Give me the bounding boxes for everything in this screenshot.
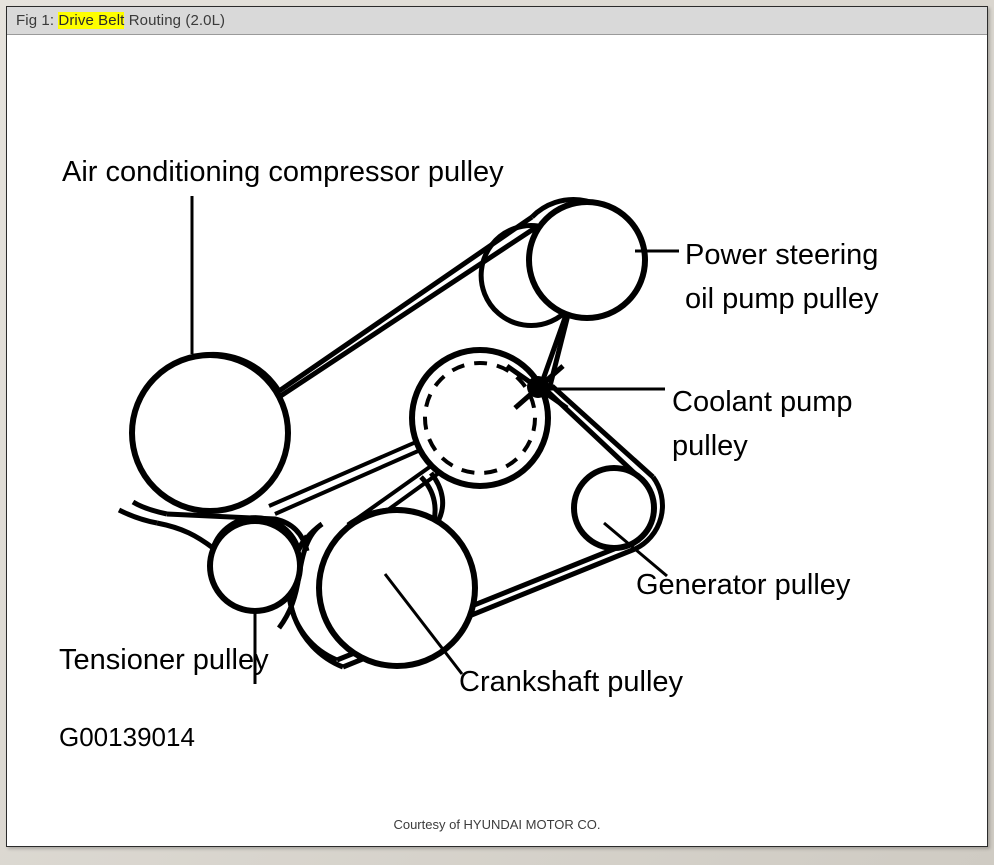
coolant-pump-pulley [412, 350, 548, 486]
belt-segment-crossing-to-generator-inner [552, 386, 653, 477]
belt-segment-tensioner-to-ac-outer [157, 523, 213, 548]
label-power-steering-pulley-line2: oil pump pulley [685, 283, 879, 315]
figure-title-suffix: Routing (2.0L) [124, 12, 225, 29]
document-viewer: Fig 1: Drive Belt Routing (2.0L) [0, 0, 994, 865]
label-crankshaft-pulley: Crankshaft pulley [459, 666, 684, 698]
label-power-steering-pulley-line1: Power steering [685, 239, 878, 271]
figure-header-bar: Fig 1: Drive Belt Routing (2.0L) [7, 7, 987, 35]
courtesy-text: Courtesy of HYUNDAI MOTOR CO. [7, 817, 987, 832]
label-ac-compressor-pulley: Air conditioning compressor pulley [62, 156, 504, 188]
figure-code: G00139014 [59, 722, 195, 752]
figure-page: Fig 1: Drive Belt Routing (2.0L) [6, 6, 988, 847]
label-generator-pulley: Generator pulley [636, 569, 851, 601]
belt-segment-tensioner-to-ac-left2 [133, 502, 167, 514]
figure-canvas: Air conditioning compressor pulley Power… [7, 36, 987, 846]
figure-title: Fig 1: Drive Belt Routing (2.0L) [16, 12, 225, 29]
drive-belt-routing-diagram: Air conditioning compressor pulley Power… [7, 36, 987, 826]
label-coolant-pump-pulley-line2: pulley [672, 430, 748, 462]
generator-pulley [574, 468, 654, 548]
figure-title-prefix: Fig 1: [16, 12, 58, 29]
power-steering-pulley [529, 202, 645, 318]
belt-knot-blob [527, 376, 549, 398]
tensioner-pulley [210, 521, 300, 611]
label-tensioner-pulley: Tensioner pulley [59, 644, 269, 676]
pulley-group [132, 202, 654, 666]
figure-title-highlight: Drive Belt [58, 12, 124, 29]
ac-compressor-pulley [132, 355, 288, 511]
label-coolant-pump-pulley-line1: Coolant pump [672, 386, 853, 418]
